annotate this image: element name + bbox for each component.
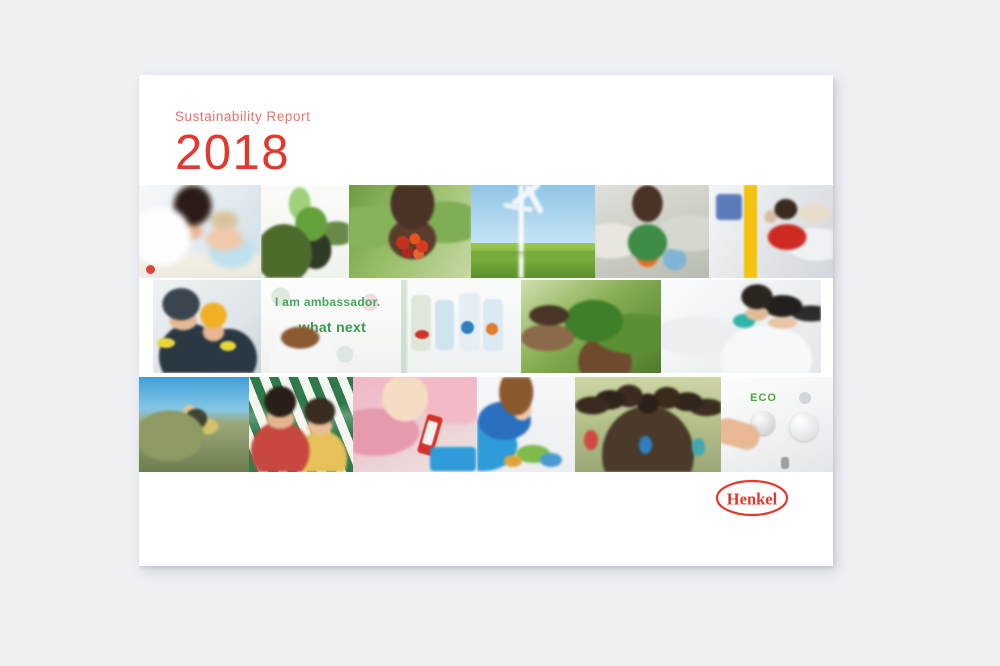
mosaic-row-1	[139, 185, 833, 278]
white-spacer-left	[139, 280, 153, 373]
two-children-photo	[249, 377, 353, 472]
photo-mosaic: I am ambassador. what next	[139, 185, 833, 473]
mosaic-row-2: I am ambassador. what next	[139, 280, 833, 373]
eco-label: ECO	[750, 392, 777, 404]
screenshot-canvas: Sustainability Report 2018	[0, 0, 1000, 666]
report-kicker-text: Sustainability Report	[175, 109, 310, 124]
ambassador-whiteboard-photo: I am ambassador. what next	[261, 280, 401, 373]
eco-button-appliance-photo: ECO	[721, 377, 833, 472]
mosaic-row-3: ECO	[139, 377, 833, 472]
palm-nursery-photo	[521, 280, 661, 373]
child-crafting-photo	[477, 377, 575, 472]
report-year-text: 2018	[175, 127, 310, 179]
waste-collector-photo	[595, 185, 709, 278]
palm-fruit-harvest-photo	[349, 185, 471, 278]
group-of-children-photo	[575, 377, 721, 472]
wind-turbine-photo	[471, 185, 595, 278]
cover-title-block: Sustainability Report 2018	[175, 109, 310, 179]
hardhat-workers-photo	[153, 280, 261, 373]
industrial-workers-photo	[709, 185, 833, 278]
mother-and-baby-photo	[139, 185, 261, 278]
cleaning-products-photo	[401, 280, 521, 373]
harvest-sack-hillside-photo	[139, 377, 249, 472]
avocado-green-products-photo	[261, 185, 349, 278]
white-spacer-right	[821, 280, 833, 373]
laboratory-scientists-photo	[661, 280, 821, 373]
glue-stick-hands-photo	[353, 377, 477, 472]
henkel-logo[interactable]: Henkel	[713, 476, 791, 520]
report-cover-page[interactable]: Sustainability Report 2018	[139, 75, 833, 566]
henkel-wordmark: Henkel	[727, 490, 778, 509]
